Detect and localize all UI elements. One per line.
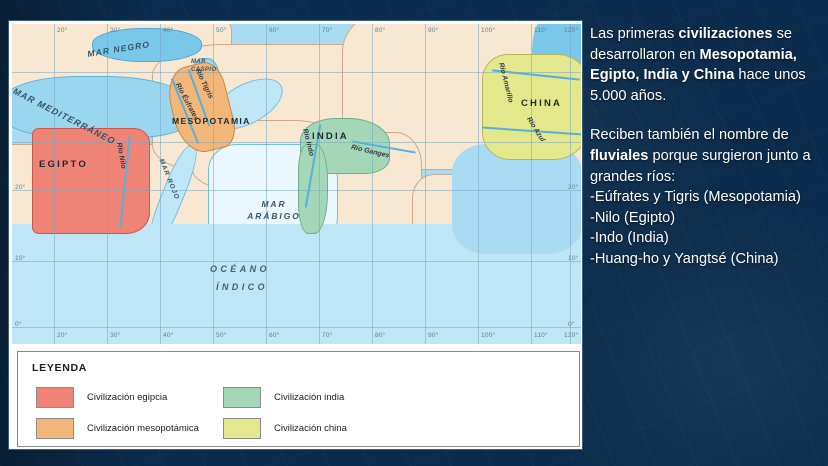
sea-black (92, 28, 202, 62)
river-list-item-huangho-yangtse: -Huang-ho y Yangtsé (China) (590, 249, 824, 270)
grid-line-lat-10 (12, 261, 581, 262)
paragraph-spacer (590, 106, 824, 125)
tick-lon-bottom-8: 100° (481, 332, 495, 339)
tick-lon-bottom-5: 70° (322, 332, 332, 339)
legend-item-china: Civilización china (223, 418, 347, 439)
map-figure: 20° 30° 40° 50° 60° 70° 80° 90° 100° 110… (12, 24, 581, 344)
river-list-item-eufrates-tigris: -Eúfrates y Tigris (Mesopotamia) (590, 187, 824, 208)
tick-lat-left-2: 0° (15, 321, 22, 328)
tick-lon-top-0: 20° (57, 27, 67, 34)
legend-label-egipcia: Civilización egipcia (87, 392, 167, 403)
tick-lon-bottom-7: 90° (428, 332, 438, 339)
tick-lon-top-8: 100° (481, 27, 495, 34)
river-list-item-nilo: -Nilo (Egipto) (590, 208, 824, 229)
tick-lon-bottom-10: 120° (564, 332, 578, 339)
sea-south-china (452, 144, 581, 254)
grid-line-lat-0 (12, 327, 581, 328)
text-column: Las primeras civilizaciones se desarroll… (590, 24, 824, 270)
tick-lat-right-1: 10° (568, 255, 578, 262)
tick-lon-top-2: 40° (163, 27, 173, 34)
tick-lon-top-10: 120° (564, 27, 578, 34)
tick-lon-bottom-6: 80° (375, 332, 385, 339)
legend-label-china: Civilización china (274, 423, 347, 434)
tick-lon-top-7: 90° (428, 27, 438, 34)
tick-lon-top-9: 110° (534, 27, 548, 34)
legend-item-india: Civilización india (223, 387, 344, 408)
river-list-item-indo: -Indo (India) (590, 228, 824, 249)
tick-lon-bottom-2: 40° (163, 332, 173, 339)
tick-lon-bottom-9: 110° (534, 332, 548, 339)
legend-label-mesopotamica: Civilización mesopotámica (87, 423, 199, 434)
tick-lat-left-0: 20° (15, 184, 25, 191)
tick-lon-top-4: 60° (269, 27, 279, 34)
para2-seg-1: fluviales (590, 148, 648, 164)
paragraph-civilizaciones: Las primeras civilizaciones se desarroll… (590, 24, 824, 106)
para1-seg-1: civilizaciones (678, 26, 772, 42)
grid-line-lat-40 (12, 72, 581, 73)
tick-lon-top-5: 70° (322, 27, 332, 34)
tick-lat-right-0: 20° (568, 184, 578, 191)
tick-lat-right-2: 0° (568, 321, 575, 328)
legend-item-mesopotamica: Civilización mesopotámica (36, 418, 199, 439)
tick-lon-top-1: 30° (110, 27, 120, 34)
legend-swatch-egipcia (36, 387, 74, 408)
paragraph-fluviales: Reciben también el nombre de fluviales p… (590, 125, 824, 187)
para2-seg-0: Reciben también el nombre de (590, 127, 789, 143)
para1-seg-0: Las primeras (590, 26, 678, 42)
tick-lon-bottom-3: 50° (216, 332, 226, 339)
legend-swatch-india (223, 387, 261, 408)
grid-line-lat-30 (12, 142, 581, 143)
tick-lon-top-6: 80° (375, 27, 385, 34)
legend-item-egipcia: Civilización egipcia (36, 387, 167, 408)
legend-label-india: Civilización india (274, 392, 344, 403)
tick-lat-left-1: 10° (15, 255, 25, 262)
legend-swatch-mesopotamica (36, 418, 74, 439)
legend-title: LEYENDA (32, 362, 87, 374)
map-panel: 20° 30° 40° 50° 60° 70° 80° 90° 100° 110… (8, 20, 583, 450)
tick-lon-bottom-0: 20° (57, 332, 67, 339)
tick-lon-top-3: 50° (216, 27, 226, 34)
legend-swatch-china (223, 418, 261, 439)
tick-lon-bottom-1: 30° (110, 332, 120, 339)
map-legend: LEYENDA Civilización egipcia Civilizació… (17, 351, 580, 447)
tick-lon-bottom-4: 60° (269, 332, 279, 339)
grid-line-lat-20 (12, 190, 581, 191)
civ-area-egipto (32, 128, 150, 234)
